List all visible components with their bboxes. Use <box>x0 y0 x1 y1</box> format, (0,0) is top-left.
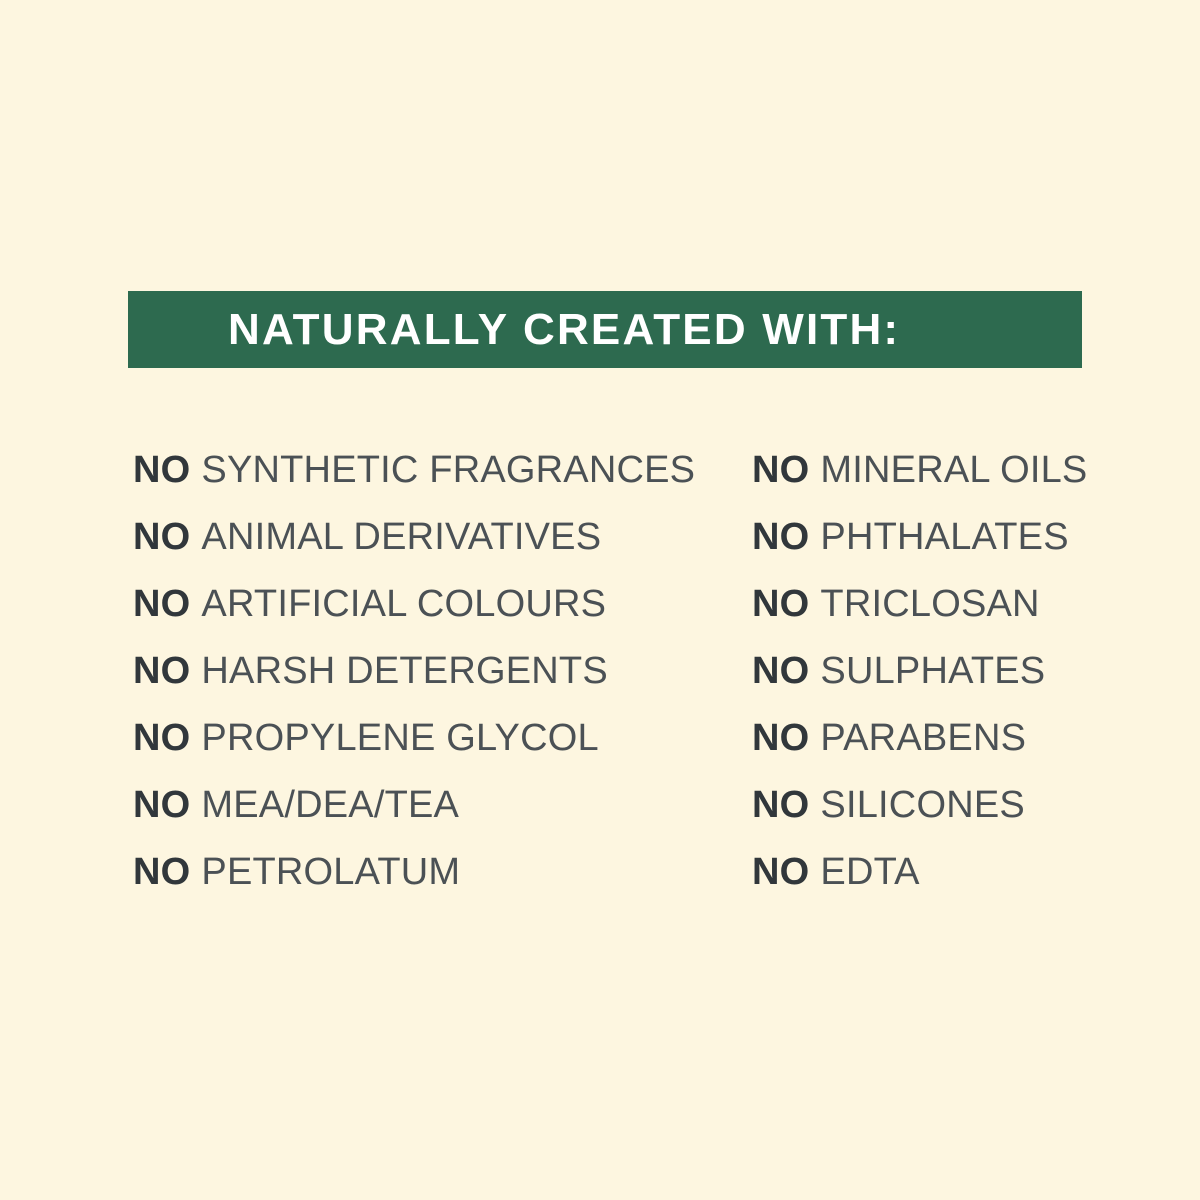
claim-prefix: NO <box>752 786 809 824</box>
claim-item: NO PARABENS <box>752 704 1087 771</box>
claim-item: NO HARSH DETERGENTS <box>133 637 695 704</box>
claim-prefix: NO <box>752 585 809 623</box>
claim-label: EDTA <box>820 853 919 891</box>
claim-prefix: NO <box>752 719 809 757</box>
claim-label: SULPHATES <box>820 652 1045 690</box>
claim-label: PETROLATUM <box>201 853 460 891</box>
claim-item: NO EDTA <box>752 838 1087 905</box>
claim-prefix: NO <box>752 652 809 690</box>
claim-prefix: NO <box>133 853 190 891</box>
claim-label: HARSH DETERGENTS <box>201 652 607 690</box>
claim-label: SILICONES <box>820 786 1025 824</box>
claim-prefix: NO <box>752 853 809 891</box>
claim-prefix: NO <box>133 585 190 623</box>
claim-label: PARABENS <box>820 719 1026 757</box>
claim-item: NO SILICONES <box>752 771 1087 838</box>
claim-prefix: NO <box>752 518 809 556</box>
product-claims-graphic: NATURALLY CREATED WITH: NO SYNTHETIC FRA… <box>0 0 1200 1200</box>
claim-label: PHTHALATES <box>820 518 1068 556</box>
claim-item: NO MINERAL OILS <box>752 436 1087 503</box>
claim-item: NO ANIMAL DERIVATIVES <box>133 503 695 570</box>
claim-item: NO SULPHATES <box>752 637 1087 704</box>
claims-column-left: NO SYNTHETIC FRAGRANCES NO ANIMAL DERIVA… <box>133 436 695 905</box>
claim-prefix: NO <box>133 518 190 556</box>
claim-prefix: NO <box>133 786 190 824</box>
claim-prefix: NO <box>752 451 809 489</box>
claim-item: NO MEA/DEA/TEA <box>133 771 695 838</box>
claim-prefix: NO <box>133 719 190 757</box>
claim-item: NO ARTIFICIAL COLOURS <box>133 570 695 637</box>
page-title: NATURALLY CREATED WITH: <box>228 308 900 352</box>
claims-column-right: NO MINERAL OILS NO PHTHALATES NO TRICLOS… <box>752 436 1087 905</box>
claim-item: NO SYNTHETIC FRAGRANCES <box>133 436 695 503</box>
naturally-created-with-banner: NATURALLY CREATED WITH: <box>128 291 1082 368</box>
claims-list: NO SYNTHETIC FRAGRANCES NO ANIMAL DERIVA… <box>0 436 1200 916</box>
claim-prefix: NO <box>133 652 190 690</box>
claim-item: NO PHTHALATES <box>752 503 1087 570</box>
claim-label: SYNTHETIC FRAGRANCES <box>201 451 695 489</box>
claim-label: MEA/DEA/TEA <box>201 786 459 824</box>
claim-label: PROPYLENE GLYCOL <box>201 719 598 757</box>
claim-label: ARTIFICIAL COLOURS <box>201 585 606 623</box>
claim-item: NO TRICLOSAN <box>752 570 1087 637</box>
claim-label: MINERAL OILS <box>820 451 1087 489</box>
claim-label: ANIMAL DERIVATIVES <box>201 518 601 556</box>
claim-label: TRICLOSAN <box>820 585 1039 623</box>
claim-item: NO PETROLATUM <box>133 838 695 905</box>
claim-prefix: NO <box>133 451 190 489</box>
claim-item: NO PROPYLENE GLYCOL <box>133 704 695 771</box>
